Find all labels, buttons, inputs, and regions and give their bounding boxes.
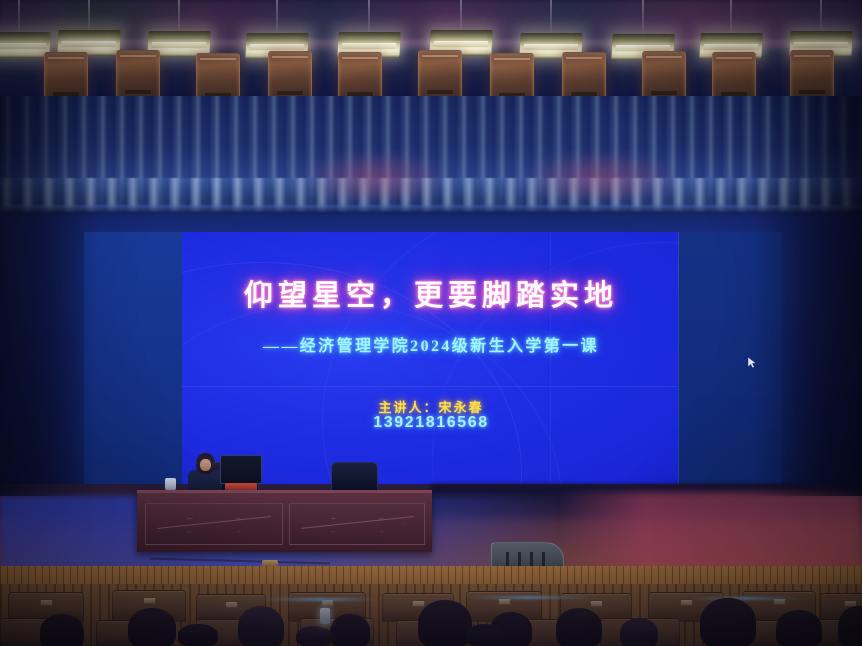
curtain-warm-glow-left	[300, 150, 450, 198]
screen-left-band	[84, 232, 182, 484]
slide-title: 仰望星空，更要脚踏实地	[182, 272, 680, 314]
audience-area	[0, 584, 862, 646]
ceiling-light-lower	[418, 50, 462, 98]
table-panel-diamond-right	[308, 518, 406, 532]
audience-head	[776, 610, 822, 646]
table-panel-diamond-left	[164, 518, 263, 532]
light-stem	[642, 0, 644, 34]
seat-number-plate	[143, 597, 156, 604]
seat-number-plate	[498, 598, 511, 605]
presenter-table	[137, 490, 432, 552]
mouse-pointer-icon[interactable]	[748, 357, 757, 368]
presenter-face	[200, 459, 211, 471]
ceiling-light-lower	[790, 50, 834, 98]
ceiling-light-lower	[338, 52, 382, 100]
ceiling-light-lower	[196, 53, 240, 101]
seat-neon-trim	[690, 597, 800, 600]
audience-phone-screen	[320, 608, 330, 624]
seat-number-plate	[680, 599, 693, 606]
seat-neon-trim	[260, 598, 380, 601]
ceiling-light-lower	[642, 51, 686, 99]
seat-number-plate	[40, 599, 53, 606]
audience-head	[418, 600, 472, 646]
stage-red-wash	[560, 492, 862, 576]
presenter-laptop	[220, 455, 262, 484]
auditorium-photo: 仰望星空，更要脚踏实地 ——经济管理学院2024级新生入学第一课 主讲人：宋永春…	[0, 0, 862, 646]
audience-head	[296, 626, 332, 646]
audience-head	[238, 606, 284, 646]
light-stem	[550, 0, 552, 33]
audience-head	[700, 598, 756, 646]
presentation-slide: 仰望星空，更要脚踏实地 ——经济管理学院2024级新生入学第一课 主讲人：宋永春…	[182, 232, 680, 484]
audience-head	[178, 624, 218, 646]
light-stem	[820, 0, 822, 31]
light-stem	[276, 0, 278, 33]
slide-subtitle: ——经济管理学院2024级新生入学第一课	[182, 332, 680, 356]
audience-head	[330, 614, 370, 646]
ceiling-light-lower	[116, 50, 160, 98]
ceiling-light-lower	[712, 52, 756, 100]
screen-right-band	[678, 232, 781, 484]
audience-head	[556, 608, 602, 646]
seat-number-plate	[590, 600, 603, 607]
table-panel-left	[145, 503, 283, 545]
ceiling-light-lower	[44, 52, 88, 100]
ceiling-light-lower	[490, 53, 534, 101]
ceiling	[0, 0, 862, 102]
table-panel-right	[289, 503, 425, 545]
seat-neon-trim	[470, 596, 590, 599]
light-stem	[18, 0, 20, 32]
desk-cup	[165, 478, 176, 490]
slide-arc-decoration	[182, 232, 680, 484]
ceiling-light-lower	[562, 52, 606, 100]
light-stem	[730, 0, 732, 33]
curtain-warm-glow-right	[520, 150, 680, 198]
slide-phone-number: 13921816568	[182, 414, 680, 432]
seat-number-plate	[225, 601, 238, 608]
light-stem	[178, 0, 180, 31]
audience-head	[466, 624, 504, 646]
light-stem	[88, 0, 90, 30]
curtain-rail	[0, 205, 862, 214]
audience-head	[620, 618, 658, 646]
audience-head	[128, 608, 176, 646]
stage-chair-right	[331, 462, 378, 492]
ceiling-light-lower	[268, 51, 312, 99]
light-stem	[368, 0, 370, 32]
seat-number-plate	[412, 600, 425, 607]
audience-head	[40, 614, 84, 646]
light-stem	[460, 0, 462, 30]
led-screen: 仰望星空，更要脚踏实地 ——经济管理学院2024级新生入学第一课 主讲人：宋永春…	[84, 232, 781, 484]
